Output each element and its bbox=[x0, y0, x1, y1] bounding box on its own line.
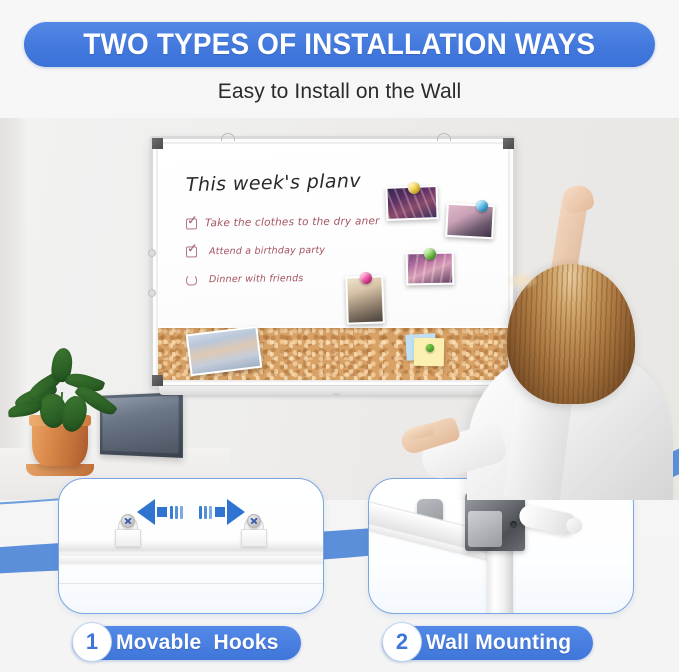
board-second-rail bbox=[58, 556, 324, 563]
step-number-badge-1: 1 bbox=[72, 622, 112, 662]
movable-hook-left bbox=[115, 517, 141, 547]
bracket-face bbox=[468, 511, 502, 547]
wall-plug-anchor bbox=[517, 503, 578, 537]
caption-panel-1: Movable Hooks 1 bbox=[72, 622, 301, 664]
photo-family-group bbox=[186, 326, 263, 376]
board-hanging-hook-right bbox=[437, 133, 451, 141]
magnet-green bbox=[424, 248, 436, 260]
whiteboard-todo-list: Take the clothes to the dry aner Attend … bbox=[186, 216, 436, 301]
caption-label-2: Wall Mounting bbox=[426, 631, 571, 655]
hair-crown-highlight bbox=[505, 274, 539, 290]
checkbox-checked-icon bbox=[186, 246, 197, 257]
magnet-yellow bbox=[408, 182, 420, 194]
todo-item: Dinner with friends bbox=[186, 271, 436, 285]
bracket-hole bbox=[510, 521, 517, 528]
todo-item-label: Dinner with friends bbox=[205, 273, 304, 285]
magnet-pink bbox=[360, 272, 372, 284]
whiteboard-title-handwriting: This week's planv bbox=[186, 170, 362, 196]
caption-label-1: Movable Hooks bbox=[116, 631, 279, 655]
movable-hook-right bbox=[241, 517, 267, 547]
title-banner: TWO TYPES OF INSTALLATION WAYS bbox=[24, 22, 655, 67]
board-hanging-hook-left bbox=[221, 133, 235, 141]
page-title: TWO TYPES OF INSTALLATION WAYS bbox=[84, 28, 596, 62]
screw-icon bbox=[121, 514, 135, 528]
frame-corner-top-right bbox=[503, 138, 514, 149]
board-side-clip-upper bbox=[148, 249, 156, 257]
screw-icon bbox=[247, 514, 261, 528]
board-face-line bbox=[58, 583, 324, 584]
corner-bracket bbox=[465, 493, 525, 551]
frame-corner-bottom-left bbox=[152, 375, 163, 386]
person-woman bbox=[429, 200, 679, 500]
hair-back-of-head bbox=[507, 264, 635, 404]
step-number-badge-2: 2 bbox=[382, 622, 422, 662]
board-top-rail bbox=[58, 539, 324, 554]
todo-item-label: Attend a birthday party bbox=[205, 245, 325, 257]
checkbox-checked-icon bbox=[186, 218, 197, 229]
product-infographic: TWO TYPES OF INSTALLATION WAYS Easy to I… bbox=[0, 0, 679, 672]
slide-direction-arrows bbox=[59, 499, 323, 525]
board-side-clip-lower bbox=[148, 289, 156, 297]
panel-movable-hooks[interactable] bbox=[58, 478, 324, 614]
arrow-left-icon bbox=[137, 499, 183, 525]
arrow-right-icon bbox=[199, 499, 245, 525]
todo-item-label: Take the clothes to the dry aner bbox=[205, 215, 380, 229]
frame-corner-top-left bbox=[152, 138, 163, 149]
subtitle: Easy to Install on the Wall bbox=[0, 80, 679, 104]
header: TWO TYPES OF INSTALLATION WAYS bbox=[0, 22, 679, 67]
pushpin-green-icon bbox=[426, 344, 434, 352]
checkbox-empty-icon bbox=[186, 274, 197, 285]
installation-panels: Movable Hooks 1 Wall Mounting 2 bbox=[0, 478, 679, 672]
todo-item: Attend a birthday party bbox=[186, 243, 436, 257]
caption-panel-2: Wall Mounting 2 bbox=[382, 622, 593, 664]
magnet-blue bbox=[476, 200, 488, 212]
